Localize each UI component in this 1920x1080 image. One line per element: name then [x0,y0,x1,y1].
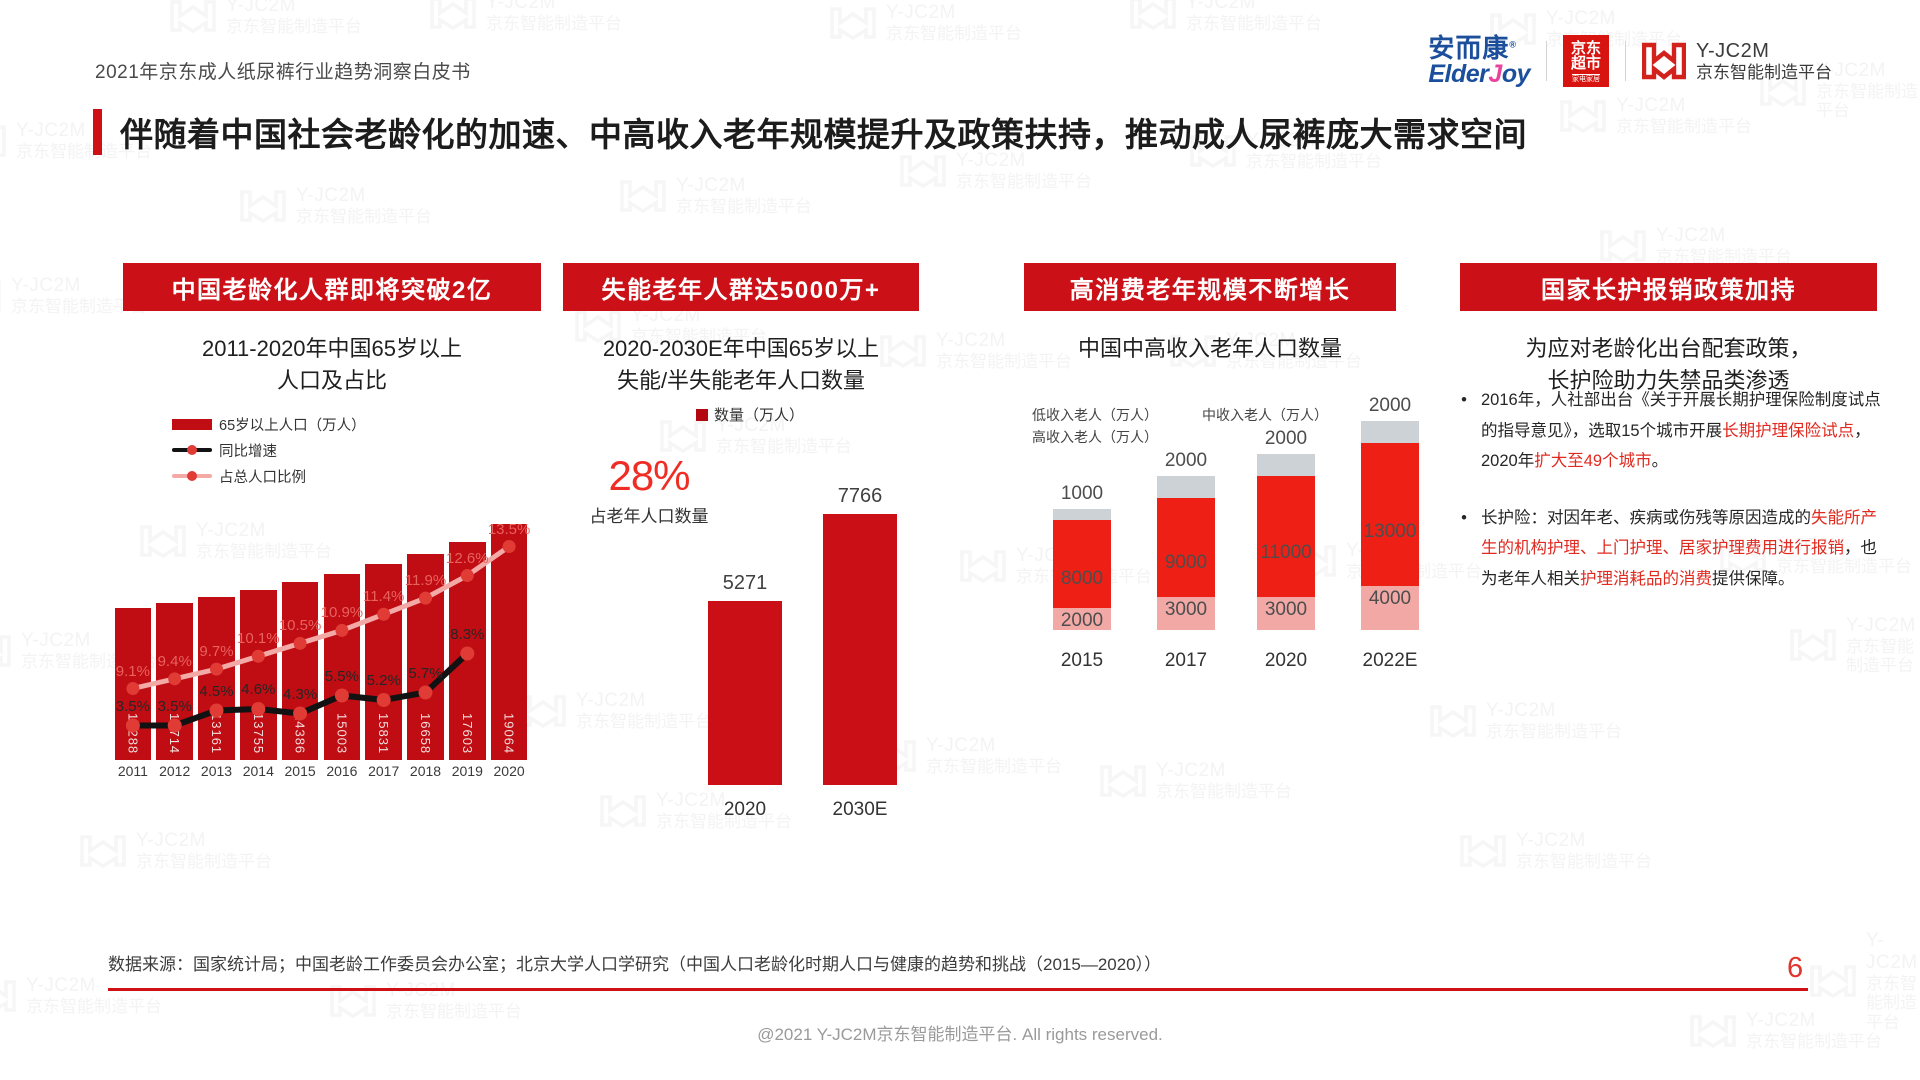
list-item-text: 2016年，人社部出台《关于开展长期护理保险制度试点的指导意见》，选取15个城市… [1481,385,1885,477]
watermark-text: Y-JC2M京东智能制造平台 [296,185,432,226]
watermark-text: Y-JC2M京东智能制造平台 [1866,930,1920,1032]
table-row [708,601,782,785]
list-item: •长护险：对因年老、疾病或伤残等原因造成的失能所产生的机构护理、上门护理、居家护… [1460,503,1885,595]
segment-value-label-mid-income: 13000 [1364,521,1417,543]
watermark-text: Y-JC2M京东智能制造平台 [386,980,522,1021]
x-axis-tick-label: 2012 [159,763,190,779]
logo-divider [1546,41,1547,81]
watermark-text: Y-JC2M京东智能制造平台 [676,175,812,216]
headline-accent-bar [93,109,102,155]
panel-disabled-elderly: 失能老年人群达5000万+ 2020-2030E年中国65岁以上 失能/半失能老… [563,263,919,397]
legend-swatch-yoy [172,444,212,456]
stacked-segment-mid-income [1157,498,1215,597]
plain-phrase: 长护险：对因年老、疾病或伤残等原因造成的 [1481,509,1811,527]
stacked-segment-mid-income [1361,443,1419,586]
segment-value-label-low-income: 4000 [1369,588,1411,610]
watermark-mark-icon [1810,964,1856,998]
panel-subtitle: 2011-2020年中国65岁以上 人口及占比 [123,333,541,397]
yjc2m-logo-line2: 京东智能制造平台 [1696,63,1832,83]
panel-high-consumption: 高消费老年规模不断增长 中国中高收入老年人口数量 [1024,263,1396,365]
watermark-text: Y-JC2M京东智能制造平台 [1616,95,1752,136]
watermark-mark-icon [620,179,666,213]
panel-subtitle-line1: 为应对老龄化出台配套政策， [1460,333,1877,365]
slide-headline: 伴随着中国社会老龄化的加速、中高收入老年规模提升及政策扶持，推动成人尿裤庞大需求… [93,108,1527,156]
legend-item-yoy: 同比增速 [172,437,366,463]
watermark-mark-icon [240,189,286,223]
share-value-label: 10.9% [321,604,364,621]
watermark-text: Y-JC2M京东智能制造平台 [956,150,1092,191]
chart1-x-axis: 2011201220132014201520162017201820192020 [112,763,530,785]
bullet-dot-icon: • [1460,385,1468,477]
table-row [823,514,897,785]
x-axis-tick-label: 2020 [494,763,525,779]
watermark-text: Y-JC2M京东智能制造平台 [1656,225,1792,266]
panel-title: 高消费老年规模不断增长 [1024,263,1396,311]
yoy-value-label: 5.2% [367,672,401,689]
jd-logo-line2: 超市 [1571,56,1601,72]
yoy-value-label: 4.6% [241,681,275,698]
panel-subtitle-line1: 中国中高收入老年人口数量 [1024,333,1396,365]
registered-trademark-icon: ® [1509,39,1517,49]
highlighted-phrase: 扩大至49个城市 [1534,452,1651,470]
logo-group: 安而康® ElderJoy 京东 超市 家电家居 Y-JC2M 京东智能制造平台 [1428,35,1832,87]
watermark-mark-icon [1560,99,1606,133]
watermark: Y-JC2M京东智能制造平台 [1810,930,1920,1032]
share-value-label: 13.5% [488,521,531,538]
chart1-legend: 65岁以上人口（万人）同比增速占总人口比例 [172,411,366,489]
bullet-dot-icon: • [1460,503,1468,595]
elderjoy-logo: 安而康® ElderJoy [1428,35,1530,87]
segment-value-label-high-income: 2000 [1369,395,1411,417]
x-axis-tick-label: 2030E [833,799,888,821]
watermark: Y-JC2M京东智能制造平台 [620,175,812,216]
elderjoy-logo-en-part2: oy [1502,60,1530,88]
watermark-mark-icon [0,124,6,158]
policy-bullet-list: •2016年，人社部出台《关于开展长期护理保险制度试点的指导意见》，选取15个城… [1460,385,1885,620]
x-axis-tick-label: 2020 [1265,650,1307,672]
segment-value-label-low-income: 3000 [1265,599,1307,621]
watermark-mark-icon [900,154,946,188]
elderjoy-logo-en-part1: Elder [1428,60,1488,88]
yoy-value-label: 5.7% [408,665,442,682]
x-axis-tick-label: 2020 [724,799,766,821]
panel-title: 失能老年人群达5000万+ [563,263,919,311]
data-source-note: 数据来源：国家统计局；中国老龄工作委员会办公室；北京大学人口学研究（中国人口老龄… [108,950,1161,975]
panel-subtitle-line2: 失能/半失能老年人口数量 [563,365,919,397]
segment-value-label-mid-income: 11000 [1260,542,1311,564]
stacked-segment-high-income [1257,454,1315,476]
yoy-value-label: 3.5% [116,698,150,715]
watermark: Y-JC2M京东智能制造平台 [1600,225,1792,266]
share-value-label: 9.7% [199,643,233,660]
highlighted-phrase: 长期护理保险试点 [1722,422,1854,440]
document-title: 2021年京东成人纸尿裤行业趋势洞察白皮书 [95,57,471,84]
stacked-segment-mid-income [1053,520,1111,608]
plain-phrase: 提供保障。 [1712,570,1795,588]
page-header: 2021年京东成人纸尿裤行业趋势洞察白皮书 安而康® ElderJoy 京东 超… [0,0,1920,100]
panel-policy-support: 国家长护报销政策加持 为应对老龄化出台配套政策， 长护险助力失禁品类渗透 [1460,263,1877,397]
x-axis-tick-label: 2022E [1363,650,1418,672]
panel-aging-population: 中国老龄化人群即将突破2亿 2011-2020年中国65岁以上 人口及占比 [123,263,541,397]
chart2-plot-area: 5271202077662030E [560,400,940,840]
yjc2m-logo-line1: Y-JC2M [1696,39,1832,63]
share-value-label: 10.1% [237,630,280,647]
panel-subtitle-line2: 人口及占比 [123,365,541,397]
legend-item-share: 占总人口比例 [172,463,366,489]
legend-label-yoy: 同比增速 [219,440,277,461]
stacked-segment-high-income [1157,476,1215,498]
jd-logo-line3: 家电家居 [1572,74,1600,83]
watermark: Y-JC2M京东智能制造平台 [330,980,522,1021]
segment-value-label-mid-income: 8000 [1061,568,1103,590]
share-value-label: 12.6% [446,550,489,567]
watermark-text: Y-JC2M京东智能制造平台 [26,975,162,1016]
segment-value-label-high-income: 2000 [1165,450,1207,472]
panel-subtitle-line1: 2011-2020年中国65岁以上 [123,333,541,365]
yoy-value-label: 4.5% [199,683,233,700]
x-axis-tick-label: 2017 [368,763,399,779]
yjc2m-mark-icon [1642,41,1686,81]
x-axis-tick-label: 2017 [1165,650,1207,672]
chart-aging-population: 65岁以上人口（万人）同比增速占总人口比例 122881271413161137… [100,400,540,840]
headline-text: 伴随着中国社会老龄化的加速、中高收入老年规模提升及政策扶持，推动成人尿裤庞大需求… [120,108,1527,156]
yjc2m-logo: Y-JC2M 京东智能制造平台 [1642,39,1832,83]
watermark-mark-icon [0,979,16,1013]
x-axis-tick-label: 2019 [452,763,483,779]
stacked-segment-high-income [1361,421,1419,443]
legend-item-population: 65岁以上人口（万人） [172,411,366,437]
chart-disabled-elderly: 数量（万人） 28% 占老年人口数量 5271202077662030E [560,400,940,840]
list-item: •2016年，人社部出台《关于开展长期护理保险制度试点的指导意见》，选取15个城… [1460,385,1885,477]
share-value-label: 10.5% [279,617,322,634]
segment-value-label-high-income: 2000 [1265,428,1307,450]
x-axis-tick-label: 2016 [326,763,357,779]
x-axis-tick-label: 2015 [285,763,316,779]
jd-supermarket-logo: 京东 超市 家电家居 [1563,35,1609,87]
panel-subtitle: 2020-2030E年中国65岁以上 失能/半失能老年人口数量 [563,333,919,397]
yoy-value-label: 3.5% [158,698,192,715]
list-item-text: 长护险：对因年老、疾病或伤残等原因造成的失能所产生的机构护理、上门护理、居家护理… [1481,503,1885,595]
elderjoy-logo-en-accent: J [1488,60,1501,88]
elderjoy-logo-cn: 安而康 [1428,33,1509,63]
chart1-plot-area: 1228812714131611375514386150031583116658… [112,505,530,760]
legend-label-population: 65岁以上人口（万人） [219,414,366,435]
panel-subtitle-line1: 2020-2030E年中国65岁以上 [563,333,919,365]
watermark: Y-JC2M京东智能制造平台 [240,185,432,226]
x-axis-tick-label: 2011 [118,763,148,779]
segment-value-label-low-income: 3000 [1165,599,1207,621]
legend-swatch-population [172,419,212,430]
segment-value-label-mid-income: 9000 [1165,552,1207,574]
chart3-plot-area: 2000800010002015300090002000201730001100… [1010,400,1410,840]
panel-title: 中国老龄化人群即将突破2亿 [123,263,541,311]
highlighted-phrase: 护理消耗品的消费 [1580,570,1712,588]
bar-value-label: 7766 [838,485,883,508]
watermark: Y-JC2M京东智能制造平台 [1560,95,1752,136]
x-axis-tick-label: 2014 [243,763,274,779]
share-value-label: 11.9% [405,572,446,589]
page-number: 6 [1787,952,1803,985]
plain-phrase: 。 [1652,452,1669,470]
share-value-label: 9.4% [158,653,192,670]
panel-title: 国家长护报销政策加持 [1460,263,1877,311]
chart-income-groups: 低收入老人（万人） 中收入老人（万人） 高收入老人（万人） 2000800010… [1010,400,1410,840]
x-axis-tick-label: 2015 [1061,650,1103,672]
segment-value-label-low-income: 2000 [1061,610,1103,632]
yoy-value-label: 8.3% [450,626,484,643]
panel-subtitle: 中国中高收入老年人口数量 [1024,333,1396,365]
x-axis-tick-label: 2013 [201,763,232,779]
legend-swatch-share [172,470,212,482]
share-value-label: 11.4% [363,588,404,605]
watermark: Y-JC2M京东智能制造平台 [900,150,1092,191]
logo-divider [1625,41,1626,81]
share-value-label: 9.1% [116,663,150,680]
stacked-segment-mid-income [1257,476,1315,597]
footer-divider [108,988,1808,991]
yoy-value-label: 5.5% [325,668,359,685]
yoy-value-label: 4.3% [283,686,317,703]
jd-logo-line1: 京东 [1571,41,1601,57]
watermark-mark-icon [1600,229,1646,263]
x-axis-tick-label: 2018 [410,763,441,779]
segment-value-label-high-income: 1000 [1061,483,1103,505]
stacked-segment-high-income [1053,509,1111,520]
legend-label-share: 占总人口比例 [219,466,306,487]
watermark: Y-JC2M京东智能制造平台 [0,975,162,1016]
bar-value-label: 5271 [723,572,768,595]
copyright-note: @2021 Y-JC2M京东智能制造平台. All rights reserve… [0,1020,1920,1045]
